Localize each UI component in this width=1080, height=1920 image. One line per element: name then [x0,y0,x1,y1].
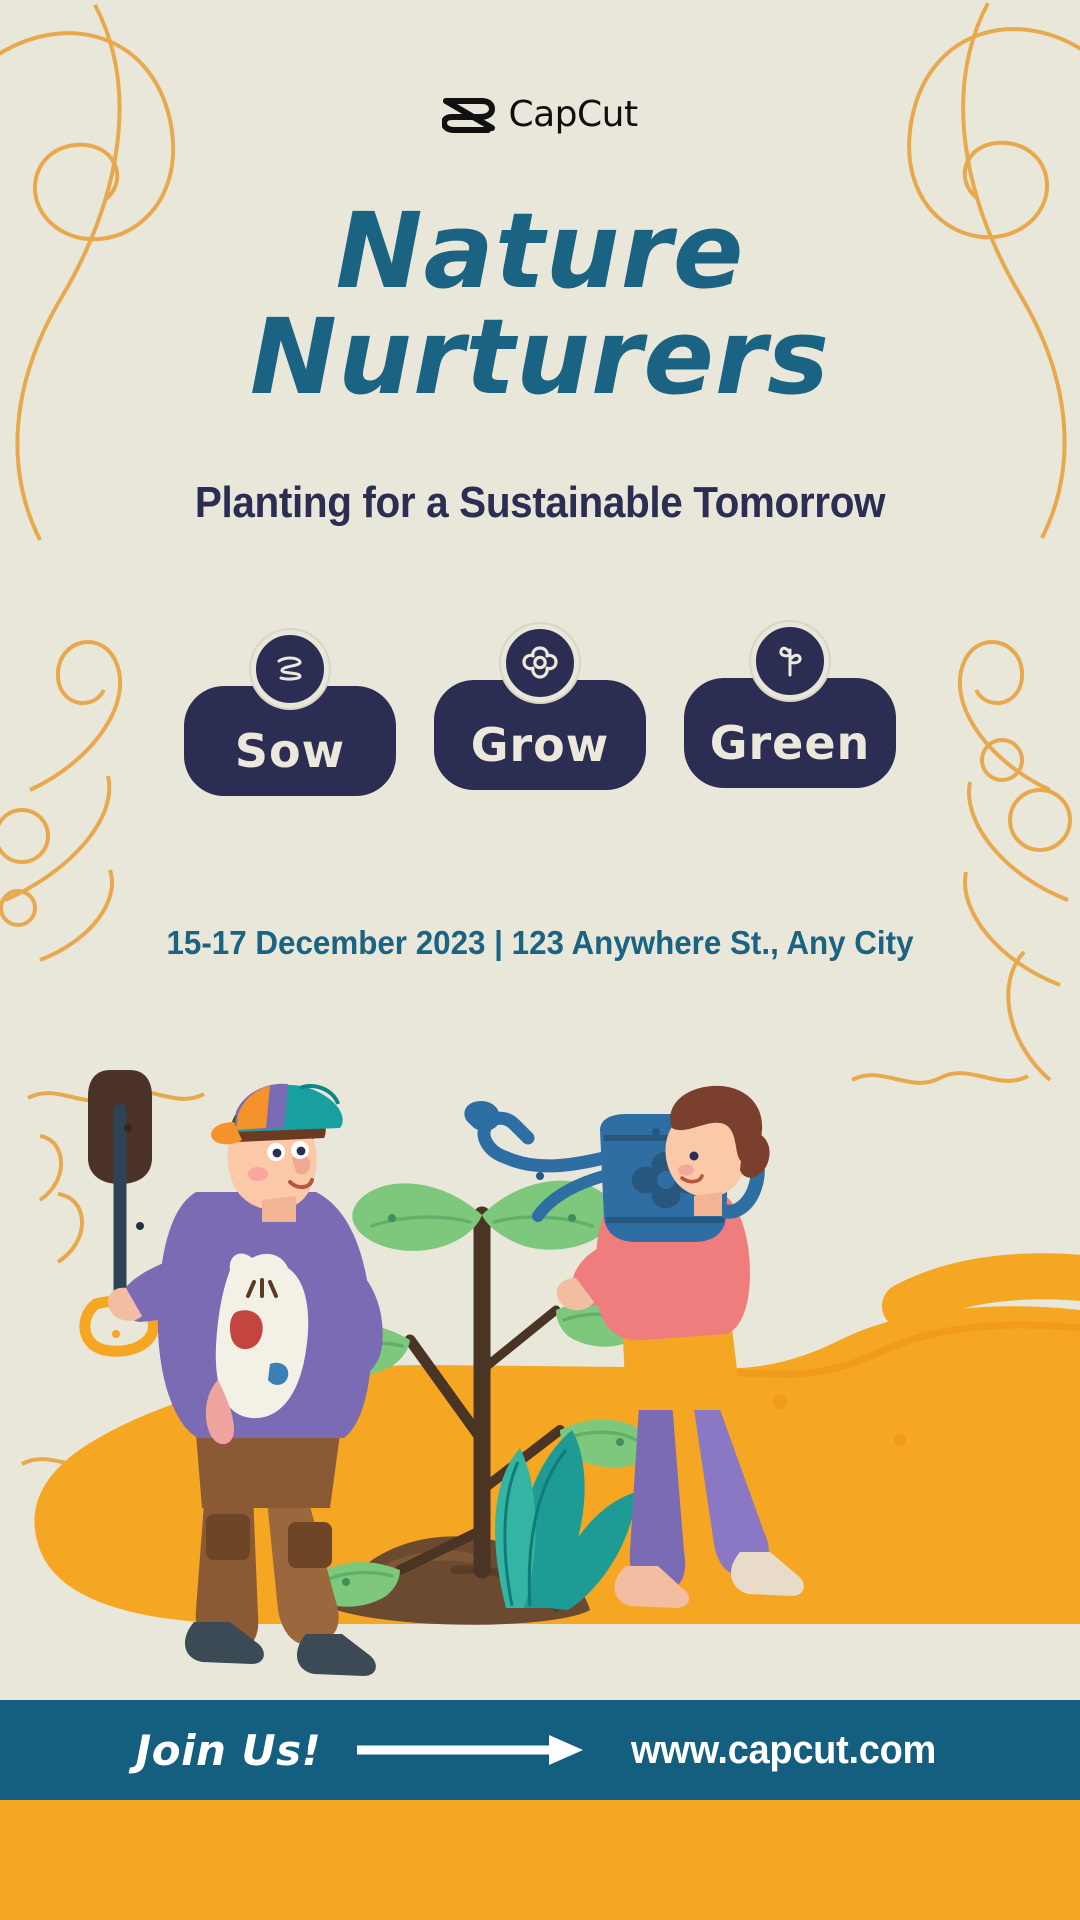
footer-orange-accent [0,1800,1080,1920]
brand-logo: CapCut [0,92,1080,136]
join-us-label: Join Us! [136,1726,322,1775]
feature-pill-group: Sow Grow [0,672,1080,796]
flower-icon [518,641,562,685]
pill-sow-label: Sow [235,724,345,778]
sprout-leaf-icon [770,640,810,682]
footer-cta-bar: Join Us! www.capcut.com [0,1700,1080,1800]
pill-sow-wrapper: Sow [184,672,396,796]
brand-logo-text: CapCut [508,94,637,135]
pill-green-wrapper: Green [684,672,896,788]
main-illustration [0,1010,1080,1730]
pill-grow-label: Grow [471,718,610,772]
poster-canvas: CapCut Nature Nurturers Planting for a S… [0,0,1080,1920]
sow-badge [251,630,329,708]
event-details: 15-17 December 2023 | 123 Anywhere St., … [27,924,1053,962]
footer: Join Us! www.capcut.com [0,1700,1080,1920]
grow-badge [501,624,579,702]
green-badge [751,622,829,700]
page-title: Nature Nurturers [0,198,1080,410]
page-title-line-2: Nurturers [0,304,1080,410]
capcut-logo-icon [442,92,498,136]
page-title-line-1: Nature [336,190,745,312]
seed-scribble-icon [269,648,311,690]
page-subtitle: Planting for a Sustainable Tomorrow [43,478,1037,528]
pill-grow-wrapper: Grow [434,672,646,790]
pill-green-label: Green [710,716,871,770]
website-url[interactable]: www.capcut.com [631,1728,936,1773]
right-arrow-icon [357,1733,587,1767]
